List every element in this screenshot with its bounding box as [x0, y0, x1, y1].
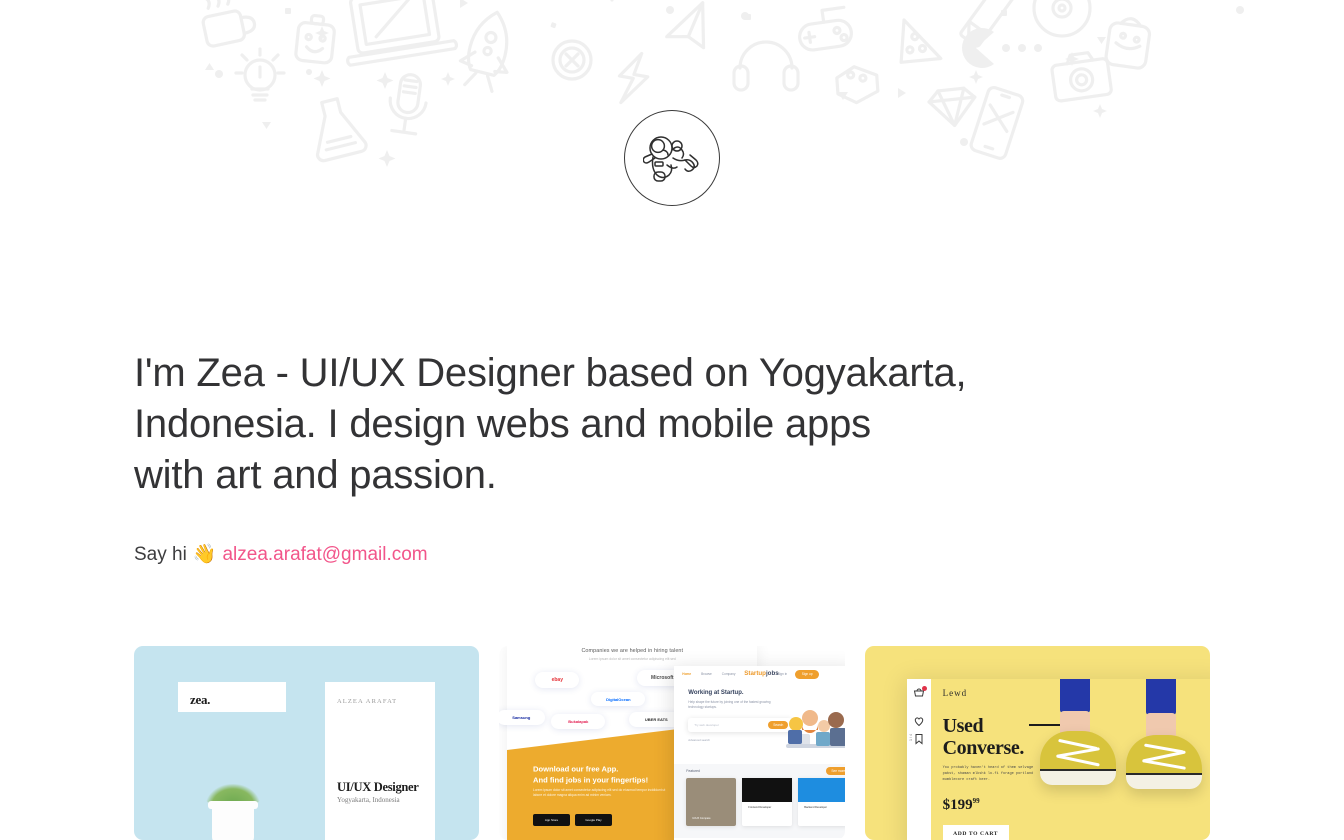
- job-search-bar[interactable]: Try web developer Search: [688, 718, 792, 732]
- startupjobs-logo: Startupjobs: [744, 670, 778, 677]
- compass-icon: [553, 41, 591, 79]
- headphones-icon: [734, 42, 798, 90]
- googleplay-badge[interactable]: Google Play: [575, 814, 612, 826]
- email-link[interactable]: alzea.arafat@gmail.com: [222, 542, 427, 568]
- logo-circle: [624, 110, 720, 206]
- companies-subheading: Lorem ipsum dolor sit amet consectetur a…: [507, 657, 757, 661]
- project-card-branding[interactable]: zea. ALZEA ARAFAT UI/UX Designer Yogyaka…: [134, 646, 479, 840]
- search-input[interactable]: Try web developer: [694, 723, 719, 727]
- shop-brand: Lewd: [943, 688, 968, 698]
- pizza-slice-icon: [895, 20, 947, 70]
- backpack-icon: [1105, 16, 1151, 69]
- product-description: You probably haven't heard of them selva…: [943, 765, 1039, 783]
- camera-icon: [1050, 50, 1112, 101]
- nav-browse[interactable]: Browse: [701, 672, 712, 676]
- featured-card-2[interactable]: Frontend Developer: [742, 778, 792, 826]
- heart-icon[interactable]: [913, 715, 925, 727]
- diamond-icon: [928, 87, 978, 128]
- plant-pot: [212, 804, 254, 840]
- hero-heading: Working at Startup.: [688, 690, 743, 696]
- product-title-line2: Converse.: [943, 737, 1024, 759]
- site-logo[interactable]: [624, 110, 720, 206]
- slide-counter: 1 / 4: [909, 734, 913, 741]
- side-rail: 1 / 4: [907, 679, 931, 840]
- waving-hand-icon: 👋: [193, 542, 217, 568]
- microphone-icon: [386, 72, 430, 134]
- product-title: Used Converse.: [943, 715, 1024, 759]
- business-card-back: ALZEA ARAFAT UI/UX Designer Yogyakarta, …: [325, 682, 435, 840]
- lego-head-icon: [295, 14, 336, 64]
- advanced-search-link[interactable]: Advanced search: [688, 738, 710, 742]
- pacman-icon: [962, 28, 1042, 68]
- sign-up-button[interactable]: Sign up: [795, 670, 819, 679]
- hero-section: I'm Zea - UI/UX Designer based on Yogyak…: [134, 348, 1144, 501]
- add-to-cart-button[interactable]: ADD TO CART: [943, 825, 1009, 840]
- lego-brick-icon: [836, 65, 878, 104]
- laptop-icon: [338, 0, 457, 66]
- portfolio-landing-page: I'm Zea - UI/UX Designer based on Yogyak…: [0, 0, 1344, 840]
- featured-card-3-label: Backend Developer: [804, 806, 827, 809]
- logo-pill-ebay: ebay: [535, 672, 579, 688]
- product-title-line1: Used: [943, 715, 984, 737]
- nav-company[interactable]: Company: [722, 672, 736, 676]
- compact-disc-icon: [1034, 0, 1090, 36]
- gamepad-icon: [796, 7, 853, 52]
- logo-text-a: Startup: [744, 670, 766, 677]
- contact-prefix: Say hi: [134, 542, 187, 568]
- card-location: Yogyakarta, Indonesia: [337, 796, 400, 804]
- cart-badge: [922, 686, 927, 691]
- lightbulb-icon: [236, 49, 284, 100]
- flask-icon: [305, 95, 367, 162]
- card-photo: [178, 712, 286, 840]
- logo-pill-digitalocean: DigitalOcean: [591, 692, 645, 706]
- smartphone-icon: [970, 86, 1025, 160]
- appstore-badge[interactable]: App Store: [533, 814, 570, 826]
- project-card-startupjobs[interactable]: Companies we are helped in hiring talent…: [499, 646, 844, 840]
- store-badges: App Store Google Play: [533, 814, 612, 826]
- nav-home[interactable]: Home: [682, 672, 691, 676]
- rocket-icon: [455, 6, 520, 93]
- brand-mark: zea.: [190, 692, 210, 708]
- lightning-bolt-icon: [615, 50, 652, 106]
- team-illustration: [784, 700, 844, 752]
- bookmark-icon[interactable]: [913, 733, 925, 745]
- featured-card-1[interactable]: UI/UX Compare: [686, 778, 736, 826]
- featured-card-2-label: Frontend Developer: [748, 806, 771, 809]
- card-role: UI/UX Designer: [337, 780, 419, 795]
- logo-pill-samsung: Samsung: [499, 710, 545, 725]
- coffee-mug-icon: [198, 0, 257, 47]
- app-promo-body: Lorem ipsum dolor sit amet consectetur a…: [533, 788, 673, 798]
- project-card-converse[interactable]: 1 / 4 Lewd Used Converse. You probably h…: [865, 646, 1210, 840]
- featured-card-1-label: UI/UX Compare: [692, 817, 710, 820]
- page-title: I'm Zea - UI/UX Designer based on Yogyak…: [134, 348, 1144, 501]
- hero-subheading: Help shape the future by joining one of …: [688, 700, 774, 710]
- hero-block: Working at Startup. Help shape the futur…: [674, 682, 844, 764]
- pencil-icon-2: [960, 0, 1020, 47]
- see-more-button[interactable]: See more: [826, 767, 844, 775]
- business-card-front: zea.: [178, 682, 286, 840]
- companies-heading: Companies we are helped in hiring talent: [507, 648, 757, 654]
- astronaut-icon: [643, 132, 701, 184]
- startupjobs-home-mock: Home Browse Company Sign in Sign up Star…: [674, 666, 844, 840]
- featured-section: Featured See more UI/UX Compare Frontend…: [674, 764, 844, 838]
- logo-text-b: jobs: [766, 670, 779, 677]
- contact-line: Say hi 👋 alzea.arafat@gmail.com: [134, 542, 428, 568]
- price-amount: $199: [943, 797, 973, 813]
- card-name: ALZEA ARAFAT: [337, 698, 397, 705]
- paper-plane-icon: [660, 3, 718, 59]
- featured-card-3[interactable]: Backend Developer: [798, 778, 844, 826]
- price-cents: 99: [973, 797, 980, 805]
- sparkle-dots: [205, 0, 1244, 167]
- project-cards: zea. ALZEA ARAFAT UI/UX Designer Yogyaka…: [134, 646, 1210, 840]
- app-promo-title: Download our free App. And find jobs in …: [533, 764, 683, 786]
- logo-pill-bukalapak: Bukalapak: [551, 714, 605, 729]
- sneaker-photo: [1034, 679, 1210, 840]
- product-price: $19999: [943, 797, 980, 814]
- converse-shop-mock: 1 / 4 Lewd Used Converse. You probably h…: [907, 679, 1210, 840]
- featured-label: Featured: [686, 769, 700, 773]
